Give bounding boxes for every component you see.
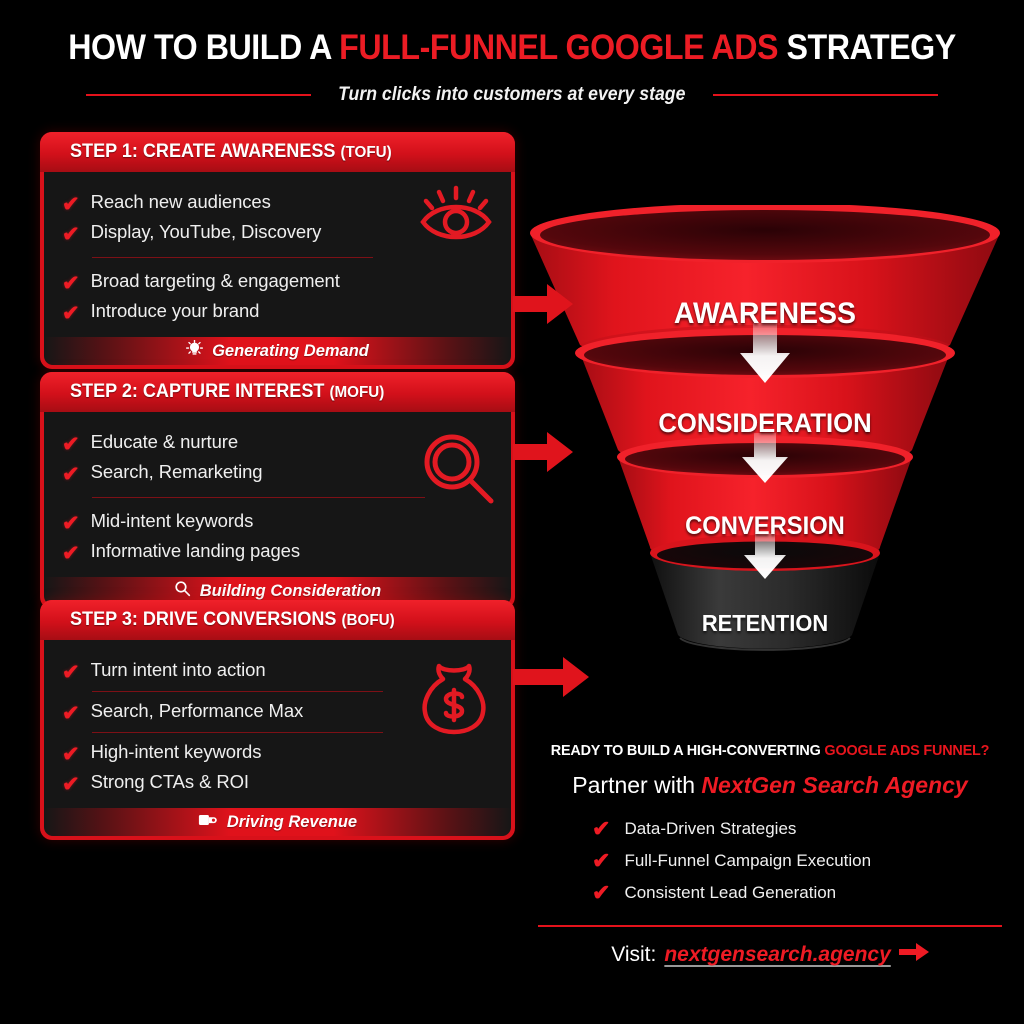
cta-benefit-list: ✔ Data-Driven Strategies ✔ Full-Funnel C…: [530, 813, 1010, 909]
cash-icon: [198, 812, 218, 833]
bullet-label: Reach new audiences: [91, 191, 271, 213]
check-icon: ✔: [62, 703, 80, 724]
page-subtitle: Turn clicks into customers at every stag…: [338, 84, 685, 106]
title-part-1: HOW TO BUILD A: [68, 28, 339, 67]
step-3-bullets: ✔ Turn intent into action ✔ Search, Perf…: [62, 656, 493, 798]
bullet-divider: [92, 732, 383, 733]
check-icon: ✔: [62, 543, 80, 564]
bullet-label: Search, Remarketing: [91, 461, 263, 483]
cta-list-item: ✔ Full-Funnel Campaign Execution: [592, 845, 1010, 877]
bullet-divider: [92, 691, 383, 692]
funnel-svg: [520, 205, 1010, 675]
bullet-label: High-intent keywords: [91, 741, 262, 763]
step-2-footer-label: Building Consideration: [200, 582, 382, 601]
step-2-tag: (MOFU): [329, 384, 384, 401]
cta-visit-label: Visit:: [611, 943, 656, 967]
bullet-item: ✔ Strong CTAs & ROI: [62, 768, 493, 798]
step-3-body: ✔ Turn intent into action ✔ Search, Perf…: [44, 640, 511, 836]
bullet-item: ✔ Broad targeting & engagement: [62, 267, 493, 297]
step-3-header: STEP 3: DRIVE CONVERSIONS (BOFU): [40, 600, 515, 640]
step-1-heading-text: STEP 1: CREATE AWARENESS: [70, 141, 335, 162]
bullet-label: Search, Performance Max: [91, 700, 304, 722]
subtitle-row: Turn clicks into customers at every stag…: [0, 82, 1024, 108]
check-icon: ✔: [62, 303, 80, 324]
step-card-2[interactable]: STEP 2: CAPTURE INTEREST (MOFU) ✔ Educat…: [40, 372, 515, 609]
step-3-footer-label: Driving Revenue: [227, 813, 357, 832]
cta-list-item: ✔ Consistent Lead Generation: [592, 877, 1010, 909]
bullet-item: ✔ Search, Remarketing: [62, 458, 493, 488]
bullet-label: Introduce your brand: [91, 300, 260, 322]
step-1-bullets: ✔ Reach new audiences ✔ Display, YouTube…: [62, 188, 493, 327]
connector-arrow-3: [513, 655, 591, 704]
step-1-footer: Generating Demand: [44, 337, 511, 365]
bullet-item: ✔ Informative landing pages: [62, 537, 493, 567]
bullet-divider: [92, 497, 425, 498]
step-card-3[interactable]: STEP 3: DRIVE CONVERSIONS (BOFU) ✔ Turn …: [40, 600, 515, 840]
bullet-label: Informative landing pages: [91, 540, 300, 562]
step-2-heading-text: STEP 2: CAPTURE INTEREST: [70, 381, 324, 402]
funnel-label-retention: RETENTION: [532, 610, 998, 637]
bullet-label: Mid-intent keywords: [91, 510, 254, 532]
step-3-heading: STEP 3: DRIVE CONVERSIONS (BOFU): [70, 609, 395, 631]
check-icon: ✔: [62, 434, 80, 455]
cta-brand-name: NextGen Search Agency: [701, 772, 967, 798]
check-icon: ✔: [62, 273, 80, 294]
check-icon: ✔: [62, 662, 80, 683]
cta-divider: [538, 925, 1002, 927]
cta-headline: READY TO BUILD A HIGH-CONVERTING GOOGLE …: [540, 742, 1001, 759]
bullet-label: Turn intent into action: [91, 659, 266, 681]
title-part-2: STRATEGY: [778, 28, 956, 67]
step-2-header: STEP 2: CAPTURE INTEREST (MOFU): [40, 372, 515, 412]
funnel-label-conversion: CONVERSION: [532, 512, 998, 541]
step-3-heading-text: STEP 3: DRIVE CONVERSIONS: [70, 609, 336, 630]
step-1-header: STEP 1: CREATE AWARENESS (TOFU): [40, 132, 515, 172]
step-1-heading: STEP 1: CREATE AWARENESS (TOFU): [70, 141, 392, 163]
step-2-heading: STEP 2: CAPTURE INTEREST (MOFU): [70, 381, 384, 403]
cta-item-label: Data-Driven Strategies: [624, 819, 796, 839]
bullet-item: ✔ Reach new audiences: [62, 188, 493, 218]
bullet-label: Display, YouTube, Discovery: [91, 221, 322, 243]
header: HOW TO BUILD A FULL-FUNNEL GOOGLE ADS ST…: [0, 0, 1024, 118]
step-card-1[interactable]: STEP 1: CREATE AWARENESS (TOFU) ✔ Reach …: [40, 132, 515, 369]
bullet-item: ✔ Search, Performance Max: [62, 697, 493, 727]
bullet-item: ✔ Educate & nurture: [62, 428, 493, 458]
arrow-right-icon: [899, 943, 929, 967]
bullet-item: ✔ Turn intent into action: [62, 656, 493, 686]
check-icon: ✔: [62, 224, 80, 245]
cta-visit-line: Visit: nextgensearch.agency: [530, 943, 1010, 967]
check-icon: ✔: [62, 464, 80, 485]
step-1-footer-label: Generating Demand: [212, 342, 369, 361]
magnifier-icon: [174, 580, 191, 602]
bullet-divider: [92, 257, 373, 258]
check-icon: ✔: [62, 744, 80, 765]
check-icon: ✔: [62, 513, 80, 534]
check-icon: ✔: [592, 818, 610, 840]
check-icon: ✔: [592, 850, 610, 872]
bullet-item: ✔ Mid-intent keywords: [62, 507, 493, 537]
step-2-body: ✔ Educate & nurture ✔ Search, Remarketin…: [44, 412, 511, 605]
bullet-item: ✔ High-intent keywords: [62, 738, 493, 768]
cta-website-link[interactable]: nextgensearch.agency: [664, 943, 890, 967]
step-1-tag: (TOFU): [340, 144, 391, 161]
check-icon: ✔: [592, 882, 610, 904]
cta-item-label: Full-Funnel Campaign Execution: [624, 851, 871, 871]
cta-item-label: Consistent Lead Generation: [624, 883, 836, 903]
funnel-label-awareness: AWARENESS: [532, 297, 998, 331]
check-icon: ✔: [62, 194, 80, 215]
step-2-bullets: ✔ Educate & nurture ✔ Search, Remarketin…: [62, 428, 493, 567]
cta-headline-white: READY TO BUILD A HIGH-CONVERTING: [551, 742, 825, 759]
page-title: HOW TO BUILD A FULL-FUNNEL GOOGLE ADS ST…: [41, 28, 983, 68]
cta-block: READY TO BUILD A HIGH-CONVERTING GOOGLE …: [530, 742, 1010, 967]
step-3-footer: Driving Revenue: [44, 808, 511, 836]
bullet-label: Educate & nurture: [91, 431, 238, 453]
subtitle-rule-left: [86, 94, 311, 96]
bullet-item: ✔ Display, YouTube, Discovery: [62, 218, 493, 248]
check-icon: ✔: [62, 774, 80, 795]
lightbulb-icon: [186, 340, 203, 362]
title-highlight: FULL-FUNNEL GOOGLE ADS: [339, 28, 778, 67]
funnel-diagram: AWARENESS CONSIDERATION CONVERSION RETEN…: [520, 205, 1010, 675]
cta-list-item: ✔ Data-Driven Strategies: [592, 813, 1010, 845]
step-3-tag: (BOFU): [341, 612, 394, 629]
cta-headline-red: GOOGLE ADS FUNNEL?: [824, 742, 989, 759]
step-1-body: ✔ Reach new audiences ✔ Display, YouTube…: [44, 172, 511, 365]
cta-partner-line: Partner with NextGen Search Agency: [530, 772, 1010, 799]
bullet-label: Broad targeting & engagement: [91, 270, 340, 292]
bullet-label: Strong CTAs & ROI: [91, 771, 249, 793]
cta-partner-prefix: Partner with: [572, 772, 701, 798]
subtitle-rule-right: [713, 94, 938, 96]
bullet-item: ✔ Introduce your brand: [62, 297, 493, 327]
funnel-label-consideration: CONSIDERATION: [532, 408, 998, 439]
